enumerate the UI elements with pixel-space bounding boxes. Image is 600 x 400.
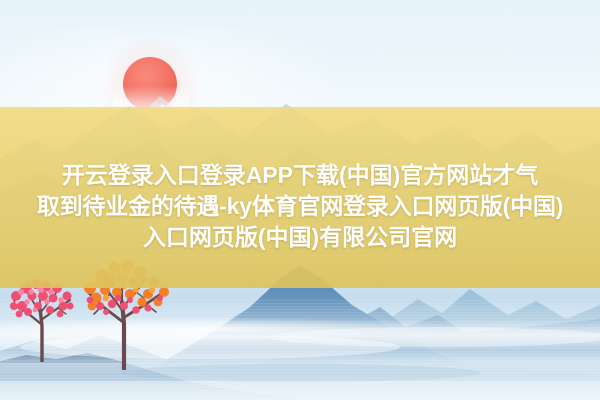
yellow-overlay-band [0,107,600,288]
band-shading [0,107,600,288]
banner-image: 开云登录入口登录APP下载(中国)官方网站才气 取到待业金的待遇-ky体育官网登… [0,0,600,400]
